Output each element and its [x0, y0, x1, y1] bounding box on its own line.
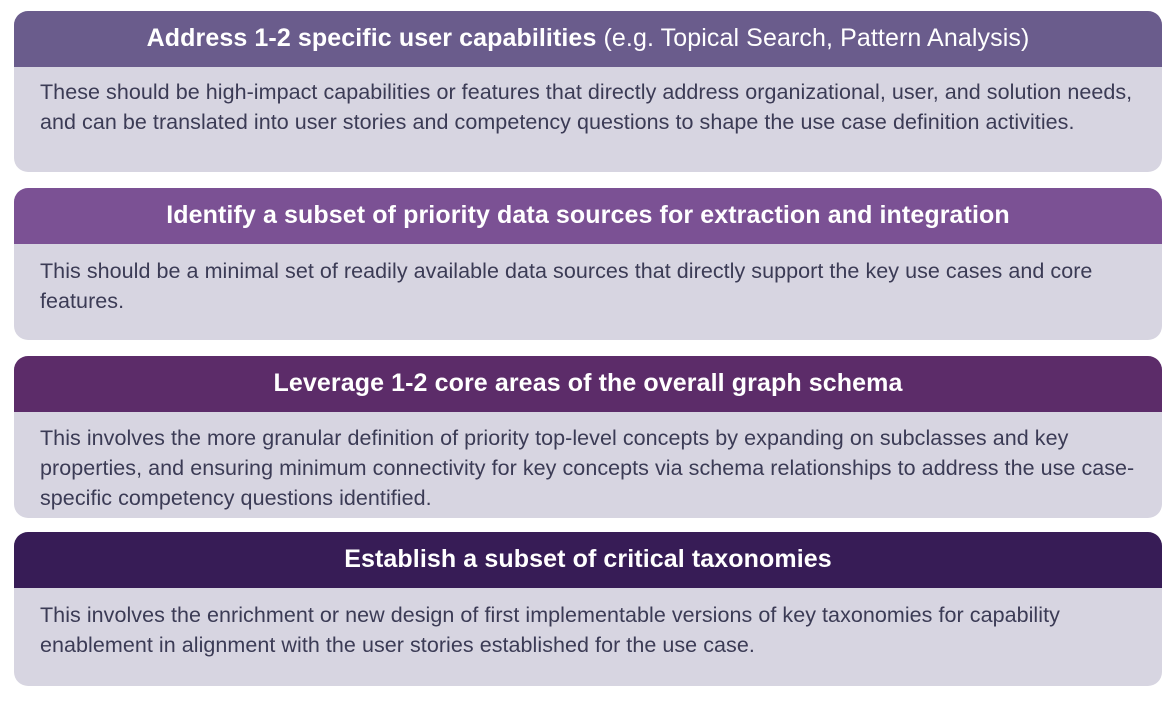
- card-header-title: Leverage 1-2 core areas of the overall g…: [273, 369, 902, 397]
- card-header: Address 1-2 specific user capabilities (…: [14, 11, 1162, 67]
- card-leverage-core-graph-schema: Leverage 1-2 core areas of the overall g…: [14, 356, 1162, 518]
- card-body-text: This involves the more granular definiti…: [14, 412, 1162, 518]
- card-header: Establish a subset of critical taxonomie…: [14, 532, 1162, 588]
- card-header: Identify a subset of priority data sourc…: [14, 188, 1162, 244]
- card-header-title: Address 1-2 specific user capabilities: [147, 24, 597, 52]
- card-address-user-capabilities: Address 1-2 specific user capabilities (…: [14, 11, 1162, 172]
- card-body-text: These should be high-impact capabilities…: [14, 67, 1162, 172]
- card-identify-priority-data-sources: Identify a subset of priority data sourc…: [14, 188, 1162, 340]
- card-header-title: Identify a subset of priority data sourc…: [166, 201, 1010, 229]
- card-stack: Address 1-2 specific user capabilities (…: [0, 0, 1176, 706]
- card-body-text: This should be a minimal set of readily …: [14, 244, 1162, 340]
- card-body-text: This involves the enrichment or new desi…: [14, 588, 1162, 686]
- card-header-title: Establish a subset of critical taxonomie…: [344, 545, 832, 573]
- card-establish-critical-taxonomies: Establish a subset of critical taxonomie…: [14, 532, 1162, 686]
- card-header-subtitle: (e.g. Topical Search, Pattern Analysis): [596, 24, 1029, 52]
- card-header: Leverage 1-2 core areas of the overall g…: [14, 356, 1162, 412]
